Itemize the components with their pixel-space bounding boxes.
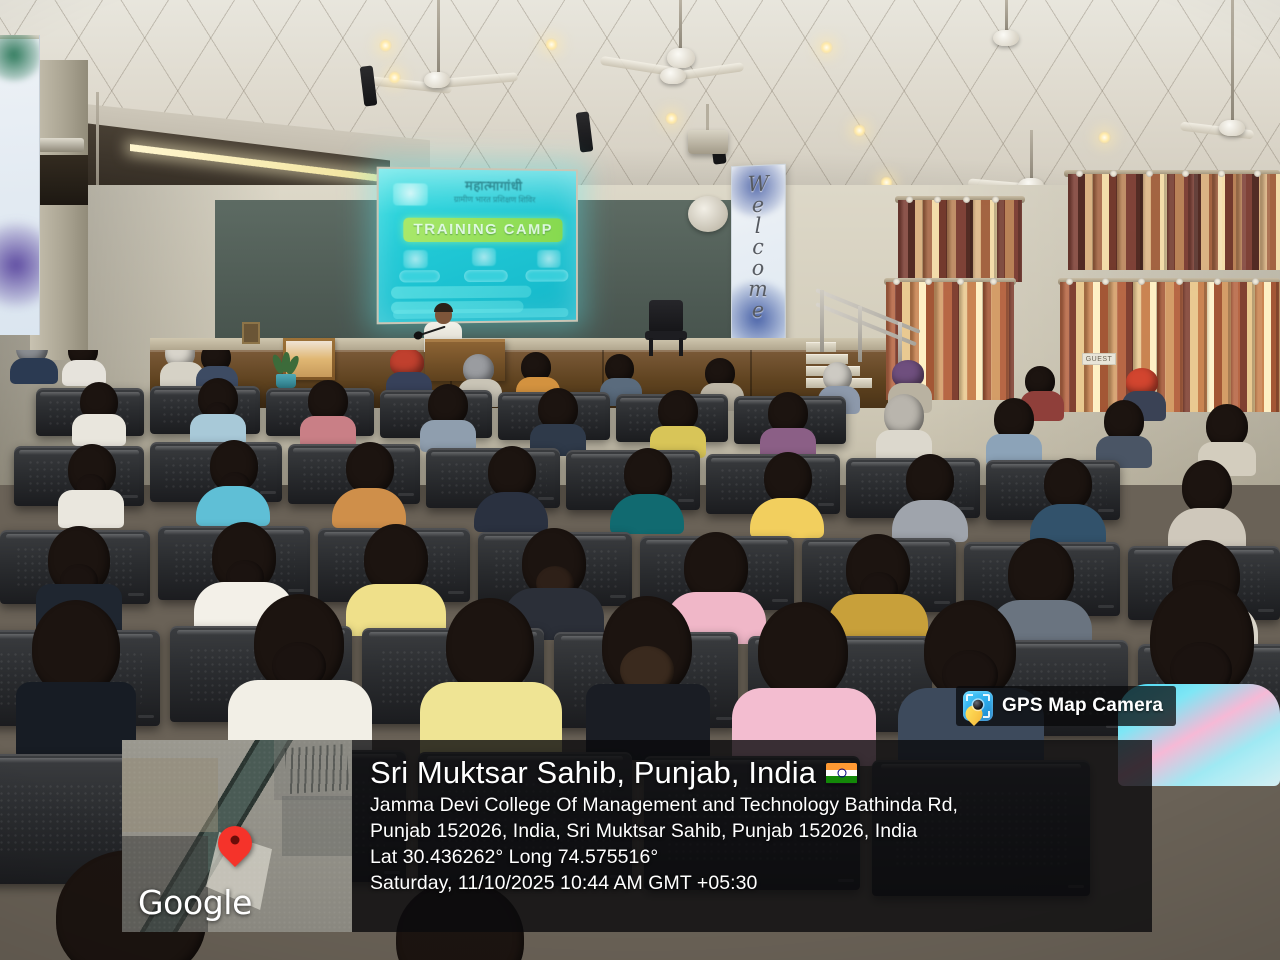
location-info-panel: Sri Muktsar Sahib, Punjab, India Jamma D…	[352, 740, 1152, 932]
gps-map-camera-photo: महात्मागांधी ग्रामीण भारत प्रशिक्षण शिवि…	[0, 0, 1280, 960]
speaker-hair	[434, 303, 453, 312]
audience-member	[614, 448, 680, 526]
chair-vent	[716, 717, 732, 720]
audience-member	[190, 378, 246, 440]
head	[446, 598, 534, 694]
audience-member	[16, 600, 136, 750]
chair-vent	[288, 589, 304, 592]
curtain-grommet	[1066, 278, 1073, 285]
fan-hub	[660, 68, 686, 84]
curtain-folds	[1068, 174, 1280, 270]
audience-member	[1034, 458, 1102, 538]
slide-footer-bar	[393, 308, 568, 319]
gps-map-camera-watermark: GPS Map Camera	[956, 686, 1176, 726]
viewfinder-corner-icon	[966, 694, 973, 701]
address-line-1: Jamma Devi College Of Management and Tec…	[370, 792, 1134, 818]
welcome-letter: c	[732, 237, 785, 258]
ceiling-light	[388, 71, 401, 84]
ceiling-light	[820, 41, 833, 54]
chair-vent	[448, 591, 464, 594]
ceiling-light	[1098, 131, 1111, 144]
torso	[10, 358, 58, 384]
gps-map-camera-label: GPS Map Camera	[1002, 695, 1163, 717]
india-flag-icon	[826, 763, 857, 784]
camera-lens-icon	[973, 700, 983, 710]
wall-banner-left	[0, 35, 40, 335]
head	[624, 448, 672, 500]
audience-member	[478, 446, 544, 524]
dupatta	[610, 494, 684, 534]
audience-member	[238, 594, 362, 748]
dupatta	[196, 486, 270, 526]
window-curtain	[898, 200, 1022, 282]
audience-member	[876, 394, 932, 456]
window-upper-right	[1068, 174, 1280, 270]
audience-member	[896, 454, 964, 534]
audience-member	[1096, 400, 1152, 462]
curtain-grommet	[1182, 170, 1189, 177]
audience-member	[336, 442, 402, 520]
audience-member	[420, 384, 476, 446]
curtain-grommet	[906, 196, 913, 203]
pin-dot	[231, 836, 240, 845]
slide-heading: महात्मागांधी	[420, 175, 567, 194]
slide-pill	[525, 270, 568, 282]
dupatta	[332, 488, 406, 528]
curtain-grommet	[1214, 278, 1221, 285]
audience-member	[530, 388, 586, 450]
banner-watercolor-purple	[0, 215, 40, 315]
stage-chair	[645, 300, 687, 356]
audience-member	[908, 600, 1034, 756]
curtain-grommet	[1102, 278, 1109, 285]
welcome-banner-text: W e l c o m e	[732, 173, 785, 322]
slide-pill-row	[393, 270, 572, 285]
fan-downrod	[1231, 0, 1234, 122]
chair-vent	[128, 593, 144, 596]
slide-pill	[399, 270, 440, 282]
chair-back	[649, 300, 683, 333]
slide-icon	[537, 250, 560, 268]
ceiling-light	[545, 38, 558, 51]
fan-hub	[1219, 120, 1245, 136]
dupatta	[750, 498, 824, 538]
small-wall-frame	[242, 322, 260, 344]
head	[1044, 458, 1092, 510]
audience-member	[650, 390, 706, 452]
curtain-grommet	[957, 278, 964, 285]
audience-member	[62, 350, 106, 380]
dupatta	[474, 492, 548, 532]
head	[488, 446, 536, 498]
welcome-banner: W e l c o m e	[731, 164, 786, 342]
google-watermark: Google	[138, 883, 252, 922]
curtain-grommet	[963, 196, 970, 203]
fan-downrod	[437, 0, 440, 78]
chair-vent	[138, 715, 154, 718]
slide-subheading: ग्रामीण भारत प्रशिक्षण शिविर	[420, 193, 569, 205]
window-curtain	[1068, 174, 1280, 270]
audience-member	[58, 444, 124, 522]
audience-member	[300, 380, 356, 442]
slide-text-row	[391, 286, 531, 299]
curtain-grommet	[992, 196, 999, 203]
curtain-grommet	[934, 196, 941, 203]
location-title-row: Sri Muktsar Sahib, Punjab, India	[370, 754, 1134, 792]
slide-icon	[403, 250, 427, 268]
curtain-grommet	[1218, 170, 1225, 177]
ceiling-projector	[688, 130, 728, 154]
curtain-grommet	[1252, 278, 1259, 285]
audience-member	[760, 392, 816, 454]
fan-hub	[424, 72, 450, 88]
wall-fixture	[38, 138, 84, 152]
map-thumbnail[interactable]: Google	[122, 740, 352, 932]
slide-icon	[472, 248, 496, 266]
address-line-2: Punjab 152026, India, Sri Muktsar Sahib,…	[370, 818, 1134, 844]
audience-member	[754, 452, 820, 530]
curtain-grommet	[1110, 170, 1117, 177]
welcome-letter: l	[732, 215, 785, 237]
curtain-grommet	[893, 278, 900, 285]
chair-vent	[678, 499, 694, 502]
location-title: Sri Muktsar Sahib, Punjab, India	[370, 754, 816, 792]
ceiling-light	[853, 124, 866, 137]
fan-downrod	[96, 92, 99, 194]
slide-banner-text: TRAINING CAMP	[403, 218, 562, 242]
head	[906, 454, 954, 506]
audience-member	[742, 602, 866, 756]
viewfinder-corner-icon	[983, 711, 990, 718]
audience-member	[1198, 404, 1256, 468]
slide-pill	[464, 270, 508, 282]
slide-subheading-2: प्रशिक्षण शिविर	[493, 195, 535, 204]
fan-hub	[993, 30, 1019, 46]
timestamp-line: Saturday, 11/10/2025 10:44 AM GMT +05:30	[370, 870, 1134, 896]
wall-mounted-fan	[688, 196, 728, 232]
projection-screen: महात्मागांधी ग्रामीण भारत प्रशिक्षण शिवि…	[377, 167, 578, 325]
head	[1182, 460, 1232, 514]
fan-downrod	[679, 0, 682, 50]
chair-vent	[122, 495, 138, 498]
head	[758, 602, 848, 700]
audience-member	[986, 398, 1042, 460]
gps-map-camera-icon	[963, 691, 993, 721]
handrail-post	[820, 290, 824, 352]
torso	[16, 682, 136, 758]
slide-subheading-1: ग्रामीण भारत	[454, 195, 491, 204]
curtain-grommet	[1138, 278, 1145, 285]
audience-member	[200, 440, 266, 518]
coordinates-line: Lat 30.436262° Long 74.575516°	[370, 844, 1134, 870]
curtain-grommet	[1146, 170, 1153, 177]
fan-downrod	[1005, 0, 1008, 32]
viewfinder-corner-icon	[983, 694, 990, 701]
audience-member	[430, 598, 552, 750]
curtain-grommet	[1254, 170, 1261, 177]
curtain-folds	[898, 200, 1022, 282]
slide-training-camp-band: TRAINING CAMP	[403, 218, 562, 242]
banner-watercolor-green	[0, 35, 40, 81]
welcome-letter: e	[732, 299, 785, 322]
head	[764, 452, 812, 504]
audience-member	[352, 524, 440, 630]
fan-hub	[667, 48, 695, 68]
ceiling-light	[665, 112, 678, 125]
torso	[72, 414, 126, 446]
curtain-grommet	[925, 278, 932, 285]
window-upper-left	[898, 200, 1022, 282]
audience-member	[586, 596, 710, 750]
curtain-grommet	[1076, 170, 1083, 177]
curtain-grommet	[1176, 278, 1183, 285]
audience-member	[72, 382, 126, 442]
chair-vent	[818, 503, 834, 506]
flag-green-stripe	[826, 776, 857, 783]
map-location-pin	[218, 826, 252, 860]
audience-member	[1172, 460, 1242, 542]
torso	[58, 490, 124, 528]
projector-mount-rod	[706, 104, 709, 132]
fan-downrod	[1030, 130, 1033, 180]
curtain-grommet	[990, 278, 997, 285]
ashoka-chakra-icon	[837, 769, 846, 778]
audience-member	[10, 350, 58, 380]
ceiling-light	[379, 39, 392, 52]
chair-vent	[1098, 605, 1114, 608]
head	[346, 442, 394, 494]
